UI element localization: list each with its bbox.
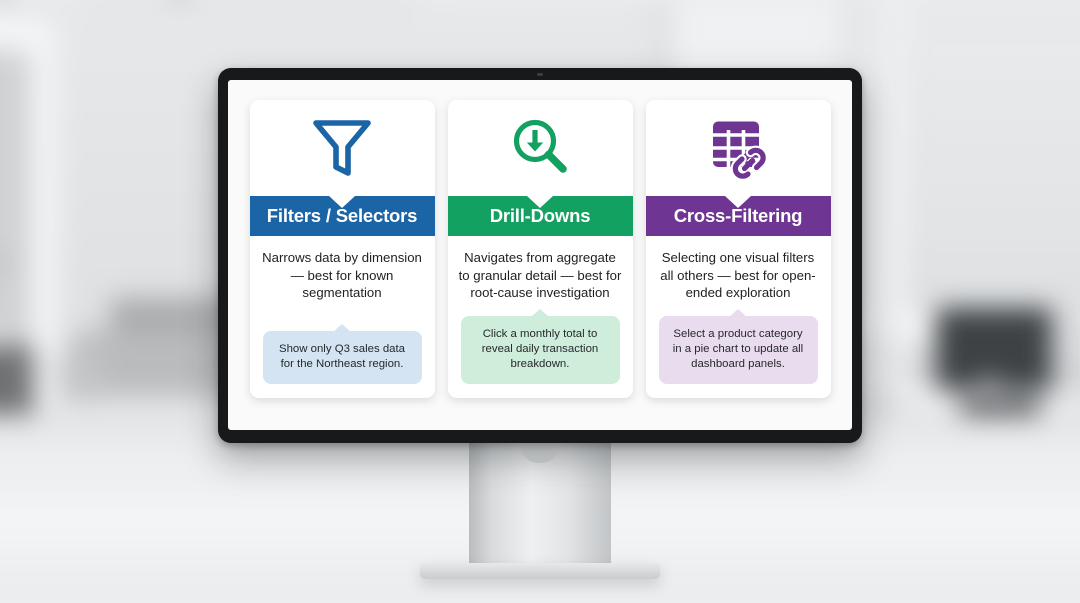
card-title: Filters / Selectors [267, 205, 417, 226]
card-title: Cross-Filtering [674, 205, 803, 226]
monitor-screen: Filters / Selectors Narrows data by dime… [228, 80, 852, 430]
card-icon-area [646, 100, 831, 196]
example-text: Show only Q3 sales data for the Northeas… [279, 343, 405, 370]
table-link-icon [706, 117, 770, 179]
callout-tip [729, 309, 747, 317]
example-text: Select a product category in a pie chart… [673, 328, 803, 370]
band-notch [329, 196, 355, 208]
floor-lamp-arc [0, 260, 14, 306]
dark-cabinet [0, 346, 34, 414]
magnifier-down-arrow-icon [508, 116, 572, 180]
card-example-area: Select a product category in a pie chart… [646, 316, 831, 384]
card-example-area: Click a monthly total to reveal daily tr… [448, 316, 633, 384]
example-text: Click a monthly total to reveal daily tr… [482, 328, 599, 370]
funnel-icon [311, 116, 373, 180]
card-drill-downs[interactable]: Drill-Downs Navigates from aggregate to … [448, 100, 633, 398]
band-notch [725, 196, 751, 208]
monitor-bezel: Filters / Selectors Narrows data by dime… [218, 68, 862, 443]
callout-tip [333, 324, 351, 332]
card-title-band: Cross-Filtering [646, 196, 831, 236]
band-notch [527, 196, 553, 208]
card-title: Drill-Downs [490, 205, 591, 226]
card-title-band: Filters / Selectors [250, 196, 435, 236]
card-example-area: Show only Q3 sales data for the Northeas… [250, 331, 435, 384]
card-description: Selecting one visual filters all others … [646, 236, 831, 312]
sofa-armrest [58, 352, 102, 400]
background-monitor [936, 308, 1052, 390]
ceiling-rail [80, 0, 420, 3]
card-deck: Filters / Selectors Narrows data by dime… [250, 100, 831, 398]
example-callout: Show only Q3 sales data for the Northeas… [263, 331, 422, 384]
card-description: Navigates from aggregate to granular det… [448, 236, 633, 312]
doorway-post [38, 20, 64, 410]
card-cross-filtering[interactable]: Cross-Filtering Selecting one visual fil… [646, 100, 831, 398]
callout-tip [531, 309, 549, 317]
card-title-band: Drill-Downs [448, 196, 633, 236]
card-filters-selectors[interactable]: Filters / Selectors Narrows data by dime… [250, 100, 435, 398]
card-icon-area [250, 100, 435, 196]
monitor-stand-base [420, 563, 660, 579]
example-callout: Select a product category in a pie chart… [659, 316, 818, 384]
card-description: Narrows data by dimension — best for kno… [250, 236, 435, 327]
example-callout: Click a monthly total to reveal daily tr… [461, 316, 620, 384]
card-icon-area [448, 100, 633, 196]
